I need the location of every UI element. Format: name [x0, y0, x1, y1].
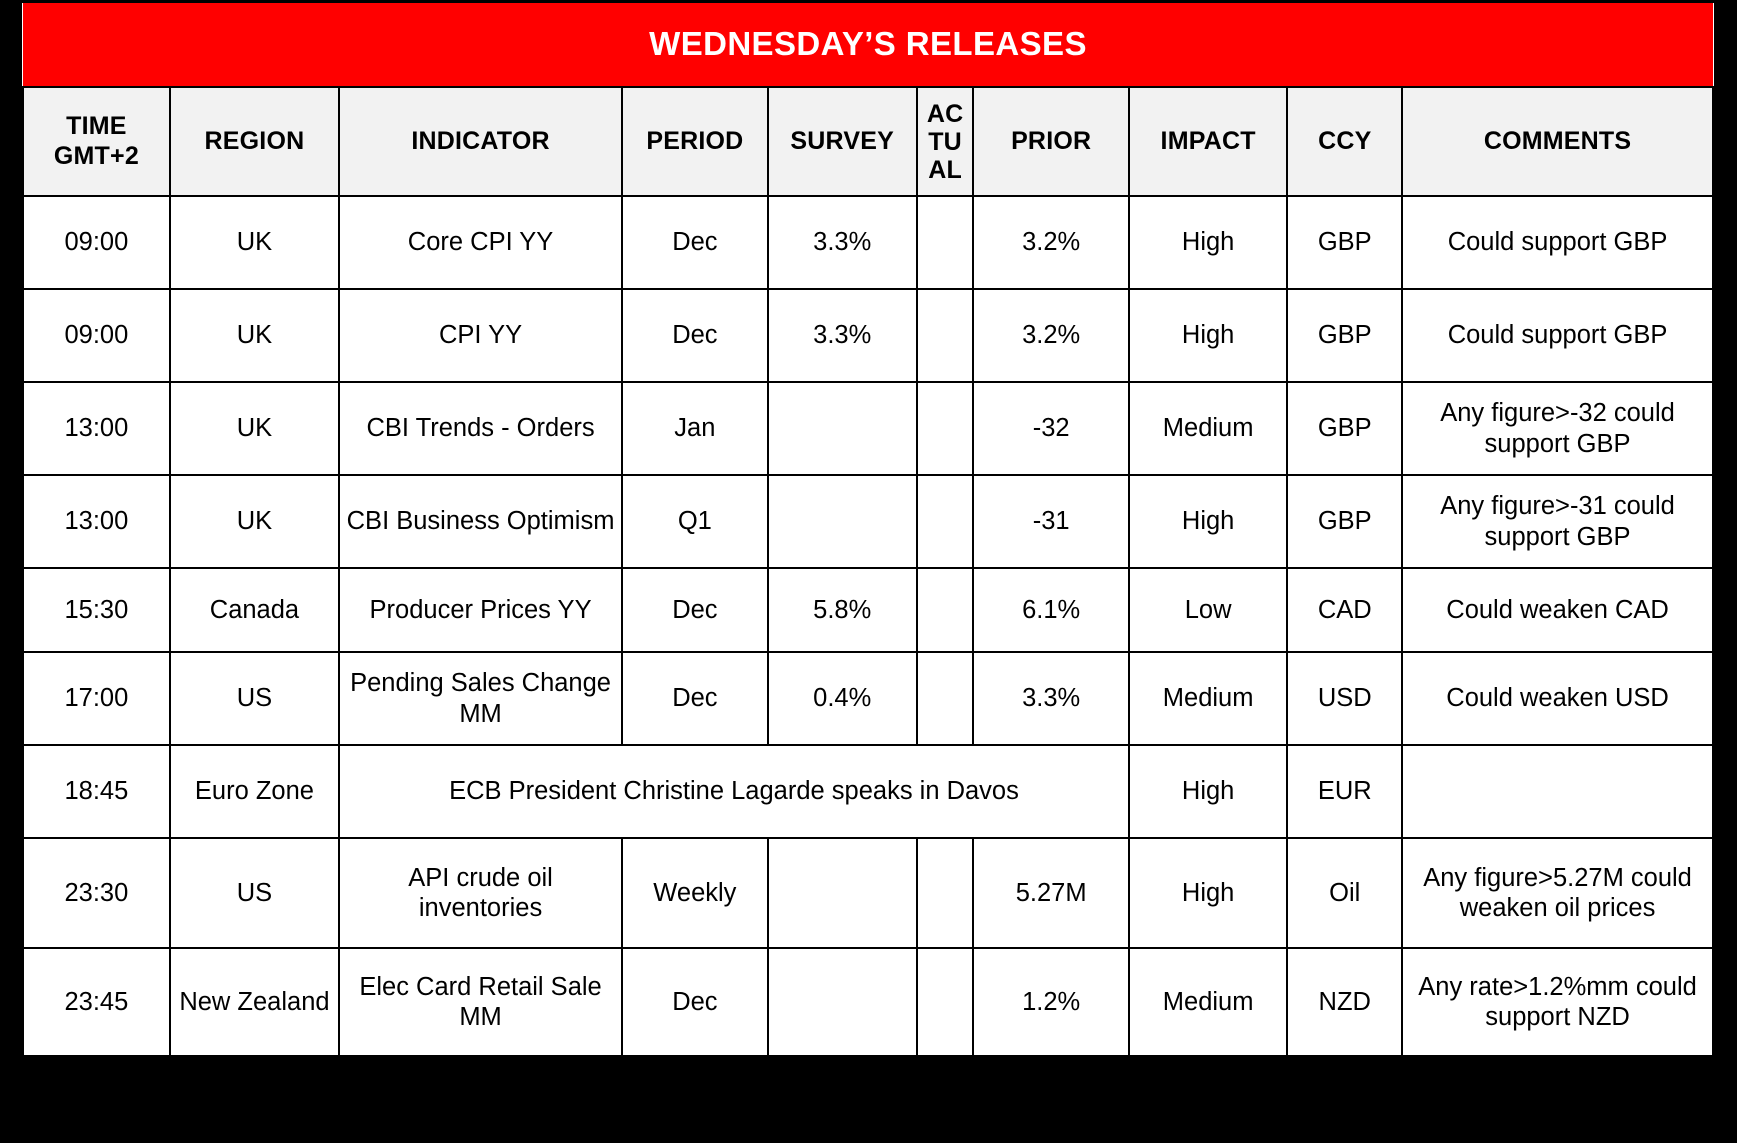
cell-survey: 3.3%	[768, 196, 917, 289]
cell-prior: 6.1%	[973, 568, 1128, 652]
cell-time: 13:00	[23, 382, 170, 475]
header-actual-line1: AC	[922, 100, 969, 128]
cell-indicator: CPI YY	[339, 289, 622, 382]
cell-prior: 1.2%	[973, 948, 1128, 1056]
cell-prior: 3.2%	[973, 196, 1128, 289]
cell-time: 18:45	[23, 745, 170, 838]
page-title: WEDNESDAY’S RELEASES	[23, 3, 1713, 87]
cell-impact: Medium	[1129, 948, 1288, 1056]
cell-ccy: EUR	[1287, 745, 1402, 838]
cell-actual	[917, 475, 974, 568]
cell-ccy: USD	[1287, 652, 1402, 745]
table-row: 09:00 UK CPI YY Dec 3.3% 3.2% High GBP C…	[23, 289, 1713, 382]
cell-ccy: GBP	[1287, 196, 1402, 289]
cell-prior: -32	[973, 382, 1128, 475]
cell-indicator: Pending Sales Change MM	[339, 652, 622, 745]
cell-actual	[917, 289, 974, 382]
cell-survey	[768, 475, 917, 568]
cell-survey	[768, 382, 917, 475]
header-actual-line3: AL	[922, 156, 969, 184]
column-header-time: TIME GMT+2	[23, 87, 170, 196]
header-time-line1: TIME	[28, 112, 165, 142]
table-row: 23:30 US API crude oil inventories Weekl…	[23, 838, 1713, 948]
cell-time: 15:30	[23, 568, 170, 652]
cell-indicator: CBI Business Optimism	[339, 475, 622, 568]
cell-comments	[1402, 745, 1713, 838]
cell-actual	[917, 948, 974, 1056]
cell-prior: 3.2%	[973, 289, 1128, 382]
cell-actual	[917, 382, 974, 475]
cell-prior: -31	[973, 475, 1128, 568]
cell-actual	[917, 652, 974, 745]
cell-survey: 3.3%	[768, 289, 917, 382]
column-header-impact: IMPACT	[1129, 87, 1288, 196]
cell-survey	[768, 948, 917, 1056]
cell-comments: Could support GBP	[1402, 196, 1713, 289]
cell-impact: Medium	[1129, 652, 1288, 745]
releases-table-container: WEDNESDAY’S RELEASES TIME GMT+2 REGION I…	[22, 3, 1714, 996]
cell-ccy: GBP	[1287, 382, 1402, 475]
cell-region: Canada	[170, 568, 339, 652]
cell-time: 13:00	[23, 475, 170, 568]
cell-ccy: CAD	[1287, 568, 1402, 652]
cell-region: New Zealand	[170, 948, 339, 1056]
cell-indicator: API crude oil inventories	[339, 838, 622, 948]
cell-comments: Could weaken USD	[1402, 652, 1713, 745]
header-time-line2: GMT+2	[28, 142, 165, 172]
cell-impact: High	[1129, 475, 1288, 568]
cell-survey: 0.4%	[768, 652, 917, 745]
cell-region: UK	[170, 382, 339, 475]
cell-ccy: GBP	[1287, 289, 1402, 382]
cell-comments: Any figure>-32 could support GBP	[1402, 382, 1713, 475]
table-row: 13:00 UK CBI Trends - Orders Jan -32 Med…	[23, 382, 1713, 475]
cell-indicator: Elec Card Retail Sale MM	[339, 948, 622, 1056]
cell-period: Dec	[622, 652, 768, 745]
cell-time: 23:30	[23, 838, 170, 948]
cell-actual	[917, 568, 974, 652]
cell-survey: 5.8%	[768, 568, 917, 652]
cell-comments: Any figure>5.27M could weaken oil prices	[1402, 838, 1713, 948]
table-row: 09:00 UK Core CPI YY Dec 3.3% 3.2% High …	[23, 196, 1713, 289]
cell-period: Q1	[622, 475, 768, 568]
cell-region: UK	[170, 289, 339, 382]
cell-region: US	[170, 652, 339, 745]
table-header-row: TIME GMT+2 REGION INDICATOR PERIOD SURVE…	[23, 87, 1713, 196]
cell-period: Dec	[622, 568, 768, 652]
table-row: 23:45 New Zealand Elec Card Retail Sale …	[23, 948, 1713, 1056]
economic-calendar-table: WEDNESDAY’S RELEASES TIME GMT+2 REGION I…	[22, 3, 1714, 1057]
cell-impact: High	[1129, 838, 1288, 948]
cell-actual	[917, 838, 974, 948]
cell-impact: Low	[1129, 568, 1288, 652]
header-actual-line2: TU	[922, 128, 969, 156]
cell-impact: High	[1129, 289, 1288, 382]
cell-period: Weekly	[622, 838, 768, 948]
cell-region: US	[170, 838, 339, 948]
column-header-ccy: CCY	[1287, 87, 1402, 196]
cell-time: 09:00	[23, 196, 170, 289]
column-header-prior: PRIOR	[973, 87, 1128, 196]
cell-comments: Could support GBP	[1402, 289, 1713, 382]
title-banner-row: WEDNESDAY’S RELEASES	[23, 3, 1713, 87]
column-header-region: REGION	[170, 87, 339, 196]
cell-indicator: ECB President Christine Lagarde speaks i…	[339, 745, 1129, 838]
cell-impact: High	[1129, 745, 1288, 838]
cell-prior: 5.27M	[973, 838, 1128, 948]
cell-comments: Any figure>-31 could support GBP	[1402, 475, 1713, 568]
cell-ccy: Oil	[1287, 838, 1402, 948]
column-header-survey: SURVEY	[768, 87, 917, 196]
table-row: 17:00 US Pending Sales Change MM Dec 0.4…	[23, 652, 1713, 745]
cell-ccy: GBP	[1287, 475, 1402, 568]
cell-time: 23:45	[23, 948, 170, 1056]
screenshot-root: WEDNESDAY’S RELEASES TIME GMT+2 REGION I…	[0, 0, 1737, 1143]
cell-indicator: CBI Trends - Orders	[339, 382, 622, 475]
cell-comments: Could weaken CAD	[1402, 568, 1713, 652]
column-header-comments: COMMENTS	[1402, 87, 1713, 196]
table-row: 18:45 Euro Zone ECB President Christine …	[23, 745, 1713, 838]
cell-prior: 3.3%	[973, 652, 1128, 745]
cell-indicator: Core CPI YY	[339, 196, 622, 289]
column-header-actual: AC TU AL	[917, 87, 974, 196]
cell-ccy: NZD	[1287, 948, 1402, 1056]
cell-impact: Medium	[1129, 382, 1288, 475]
cell-period: Dec	[622, 196, 768, 289]
cell-region: UK	[170, 196, 339, 289]
table-row: 15:30 Canada Producer Prices YY Dec 5.8%…	[23, 568, 1713, 652]
cell-impact: High	[1129, 196, 1288, 289]
cell-time: 17:00	[23, 652, 170, 745]
cell-survey	[768, 838, 917, 948]
cell-period: Jan	[622, 382, 768, 475]
column-header-indicator: INDICATOR	[339, 87, 622, 196]
cell-indicator: Producer Prices YY	[339, 568, 622, 652]
cell-actual	[917, 196, 974, 289]
column-header-period: PERIOD	[622, 87, 768, 196]
cell-region: UK	[170, 475, 339, 568]
cell-comments: Any rate>1.2%mm could support NZD	[1402, 948, 1713, 1056]
cell-time: 09:00	[23, 289, 170, 382]
cell-period: Dec	[622, 948, 768, 1056]
cell-region: Euro Zone	[170, 745, 339, 838]
cell-period: Dec	[622, 289, 768, 382]
table-row: 13:00 UK CBI Business Optimism Q1 -31 Hi…	[23, 475, 1713, 568]
